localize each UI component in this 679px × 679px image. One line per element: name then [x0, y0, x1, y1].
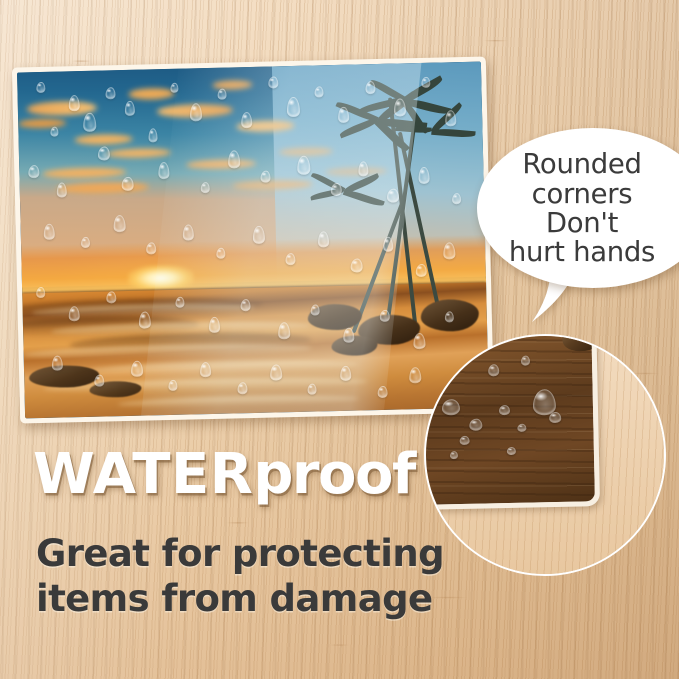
beach-sunset-placemat — [12, 56, 494, 423]
subheading-line-1: Great for protecting — [36, 531, 444, 576]
callout-line-1: Rounded — [522, 150, 641, 179]
zoomed-mat-corner — [424, 334, 600, 510]
rounded-corner-zoom — [424, 334, 666, 576]
subheading-line-2: items from damage — [36, 576, 444, 621]
callout-line-4: hurt hands — [509, 238, 655, 267]
callout-line-3: Don't — [546, 209, 618, 238]
zoomed-wood-photo — [424, 334, 595, 505]
palm-trees — [286, 68, 488, 363]
headline-strong: WATER — [33, 442, 253, 507]
placemat-photo — [17, 62, 489, 419]
callout-line-2: corners — [532, 180, 633, 209]
marketing-image: Rounded corners Don't hurt hands WATERpr… — [0, 0, 679, 679]
speech-bubble-text: Rounded corners Don't hurt hands — [477, 134, 679, 284]
headline-soft: proof — [253, 442, 415, 507]
subheading: Great for protecting items from damage — [36, 531, 444, 621]
headline: WATERproof — [33, 447, 415, 503]
